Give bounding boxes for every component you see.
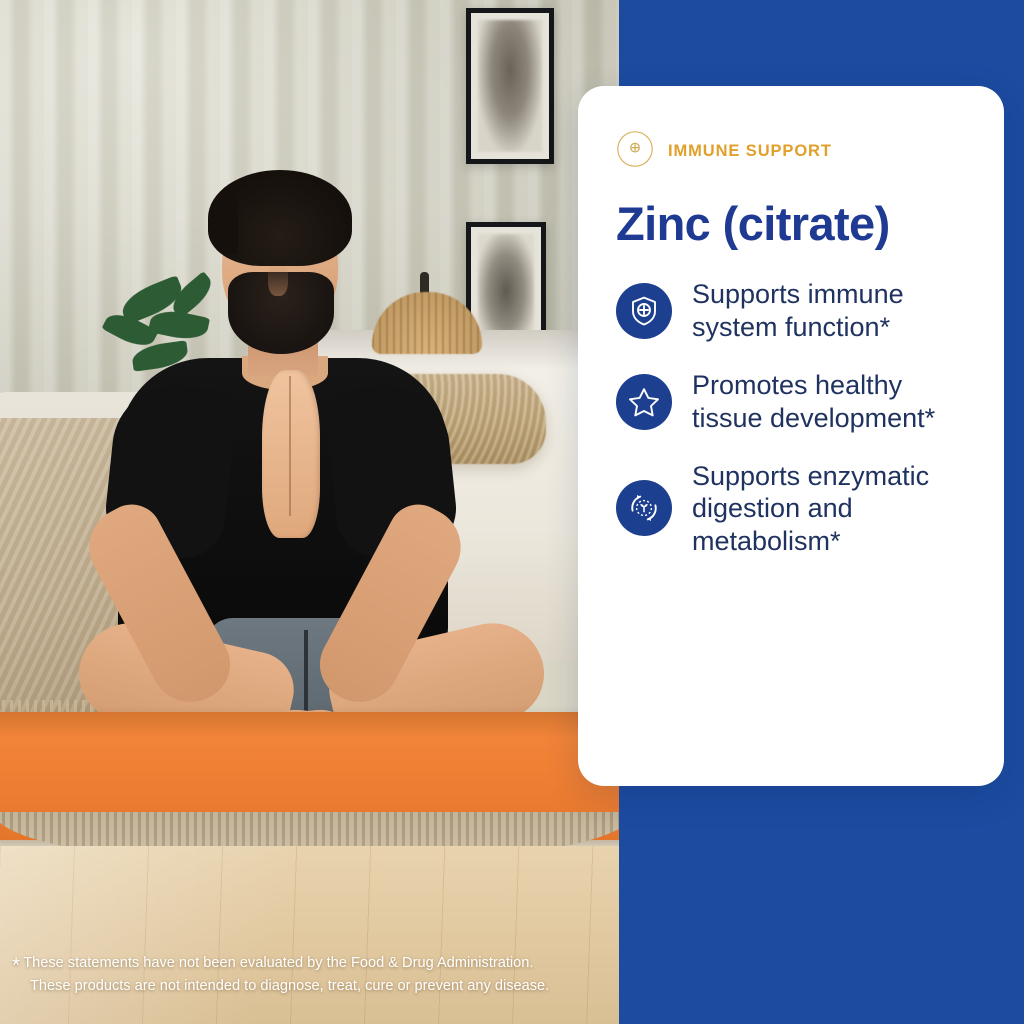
metabolism-cycle-sprout-icon <box>616 480 672 536</box>
benefit-item-metabolism: Supports enzymatic digestion and metabol… <box>616 460 968 557</box>
hair <box>208 170 352 266</box>
fda-disclaimer: *These statements have not been evaluate… <box>0 952 619 997</box>
page-title: Zinc (citrate) <box>616 199 968 248</box>
disclaimer-line-one: *These statements have not been evaluate… <box>12 952 603 975</box>
benefit-label: Promotes healthy tissue development* <box>692 369 968 434</box>
nose <box>268 262 288 296</box>
shield-check-badge-icon <box>616 130 654 173</box>
benefit-label: Supports immune system function* <box>692 278 968 343</box>
disclaimer-line-two: These products are not intended to diagn… <box>12 975 603 998</box>
benefit-item-tissue: Promotes healthy tissue development* <box>616 369 968 434</box>
star-icon <box>616 374 672 430</box>
category-badge: IMMUNE SUPPORT <box>616 130 968 173</box>
yoga-mat-shadow <box>0 712 619 738</box>
lifestyle-photo <box>0 0 619 1024</box>
promo-graphic: IMMUNE SUPPORT Zinc (citrate) Supports i… <box>0 0 1024 1024</box>
product-info-card: IMMUNE SUPPORT Zinc (citrate) Supports i… <box>578 86 1004 786</box>
benefit-item-immune: Supports immune system function* <box>616 278 968 343</box>
wood-floor-sheen <box>0 846 619 1024</box>
shield-plus-icon <box>616 283 672 339</box>
asterisk-marker: * <box>12 954 20 977</box>
prayer-hands <box>262 370 320 538</box>
benefit-label: Supports enzymatic digestion and metabol… <box>692 460 968 557</box>
category-badge-label: IMMUNE SUPPORT <box>668 142 832 161</box>
disclaimer-text-one: These statements have not been evaluated… <box>23 955 533 971</box>
